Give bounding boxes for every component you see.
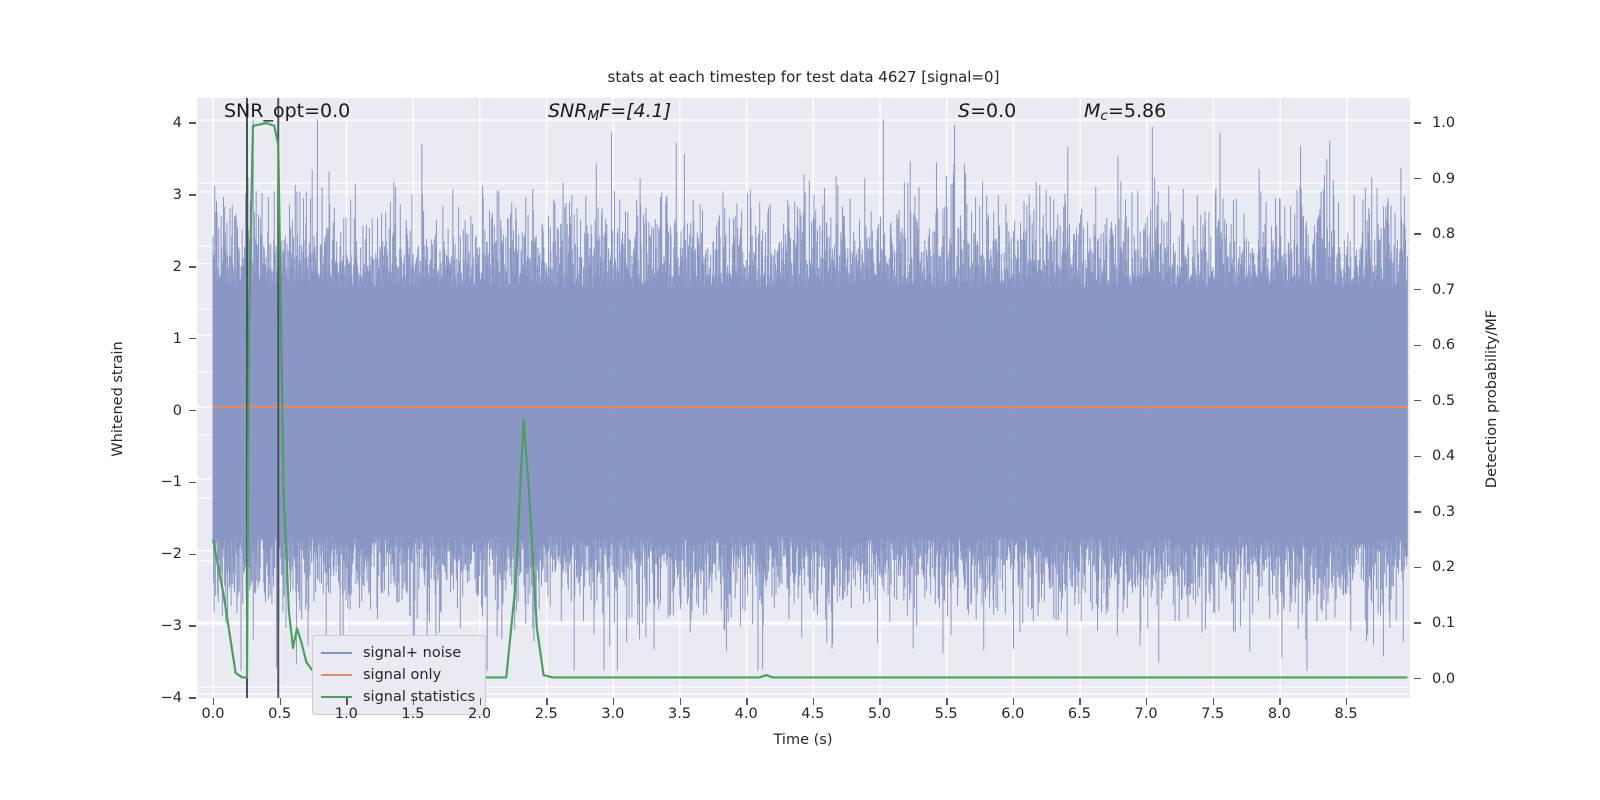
y-axis-left-tick-label: 1 bbox=[142, 331, 182, 347]
y-axis-right-tick-mark bbox=[1414, 678, 1421, 679]
x-axis-tick-label: 4.5 bbox=[783, 706, 843, 722]
y-axis-right-tick-mark bbox=[1414, 178, 1421, 179]
y-axis-right-tick-label: 0.0 bbox=[1432, 671, 1492, 687]
x-axis-tick-mark bbox=[346, 698, 347, 705]
y-axis-right-tick-label: 0.4 bbox=[1432, 448, 1492, 464]
legend-swatch-signal-plus-noise bbox=[321, 652, 352, 654]
y-axis-right-tick-mark bbox=[1414, 400, 1421, 401]
y-axis-right-tick-mark bbox=[1414, 511, 1421, 512]
x-axis-tick-label: 5.0 bbox=[849, 706, 909, 722]
annotation-s-stat-tail: =0.0 bbox=[970, 100, 1016, 122]
series-signal-plus-noise bbox=[213, 120, 1407, 671]
y-axis-left-tick-label: 4 bbox=[142, 115, 182, 131]
x-axis-tick-mark bbox=[480, 698, 481, 705]
y-axis-right-tick-label: 0.7 bbox=[1432, 282, 1492, 298]
y-axis-right-tick-label: 0.6 bbox=[1432, 337, 1492, 353]
y-axis-right-tick-mark bbox=[1414, 567, 1421, 568]
plot-canvas bbox=[197, 98, 1410, 698]
x-axis-tick-label: 3.0 bbox=[583, 706, 643, 722]
annotation-s-stat: S=0.0 bbox=[958, 100, 1016, 122]
x-axis-tick-mark bbox=[1079, 698, 1080, 705]
y-axis-right-tick-mark bbox=[1414, 289, 1421, 290]
x-axis-tick-mark bbox=[746, 698, 747, 705]
y-axis-left-tick-mark bbox=[189, 554, 196, 555]
y-axis-left-tick-label: −4 bbox=[142, 690, 182, 706]
y-axis-left-tick-mark bbox=[189, 410, 196, 411]
annotation-snr-mf-sub: M bbox=[587, 108, 599, 124]
annotation-snr-opt: SNR_opt=0.0 bbox=[224, 100, 350, 122]
annotation-s-stat-base: S bbox=[958, 100, 970, 122]
y-axis-left-tick-label: −3 bbox=[142, 618, 182, 634]
y-axis-left-label: Whitened strain bbox=[110, 341, 126, 456]
legend-label-signal-only: signal only bbox=[363, 667, 441, 683]
x-axis-tick-mark bbox=[280, 698, 281, 705]
y-axis-right-tick-label: 0.1 bbox=[1432, 615, 1492, 631]
legend-swatch-signal-only bbox=[321, 674, 352, 676]
y-axis-left-tick-label: −1 bbox=[142, 474, 182, 490]
legend-label-signal-statistics: signal statistics bbox=[363, 689, 475, 705]
x-axis-label: Time (s) bbox=[774, 732, 833, 748]
y-axis-right-tick-label: 0.3 bbox=[1432, 504, 1492, 520]
x-axis-tick-mark bbox=[879, 698, 880, 705]
x-axis-tick-mark bbox=[1013, 698, 1014, 705]
x-axis-tick-mark bbox=[813, 698, 814, 705]
x-axis-tick-mark bbox=[1213, 698, 1214, 705]
x-axis-tick-mark bbox=[1346, 698, 1347, 705]
y-axis-right-tick-mark bbox=[1414, 122, 1421, 123]
y-axis-right-tick-label: 0.9 bbox=[1432, 171, 1492, 187]
x-axis-tick-label: 7.5 bbox=[1183, 706, 1243, 722]
annotation-snr-mf: SNRMF=[4.1] bbox=[548, 100, 671, 124]
y-axis-left-tick-mark bbox=[189, 625, 196, 626]
x-axis-tick-label: 2.5 bbox=[516, 706, 576, 722]
y-axis-right-tick-label: 0.8 bbox=[1432, 226, 1492, 242]
y-axis-right-tick-label: 1.0 bbox=[1432, 115, 1492, 131]
x-axis-tick-label: 7.0 bbox=[1116, 706, 1176, 722]
x-axis-tick-label: 8.0 bbox=[1249, 706, 1309, 722]
x-axis-tick-label: 6.5 bbox=[1049, 706, 1109, 722]
legend-label-signal-plus-noise: signal+ noise bbox=[363, 645, 461, 661]
y-axis-left-tick-mark bbox=[189, 338, 196, 339]
annotation-snr-mf-base: SNR bbox=[548, 100, 587, 122]
legend-item-signal-statistics[interactable]: signal statistics bbox=[321, 686, 475, 708]
annotation-chirp-mass: Mc=5.86 bbox=[1084, 100, 1166, 124]
x-axis-tick-mark bbox=[213, 698, 214, 705]
y-axis-right-tick-label: 0.5 bbox=[1432, 393, 1492, 409]
legend-item-signal-only[interactable]: signal only bbox=[321, 664, 475, 686]
x-axis-tick-label: 3.5 bbox=[650, 706, 710, 722]
x-axis-tick-mark bbox=[546, 698, 547, 705]
x-axis-tick-label: 4.0 bbox=[716, 706, 776, 722]
x-axis-tick-mark bbox=[1146, 698, 1147, 705]
x-axis-tick-label: 6.0 bbox=[983, 706, 1043, 722]
y-axis-left-tick-mark bbox=[189, 697, 196, 698]
annotation-snr-mf-tail: F=[4.1] bbox=[599, 100, 671, 122]
x-axis-tick-label: 0.5 bbox=[250, 706, 310, 722]
x-axis-tick-label: 2.0 bbox=[450, 706, 510, 722]
y-axis-right-tick-mark bbox=[1414, 622, 1421, 623]
y-axis-left-tick-mark bbox=[189, 122, 196, 123]
y-axis-right-label: Detection probability/MF bbox=[1484, 310, 1500, 488]
legend-item-signal-plus-noise[interactable]: signal+ noise bbox=[321, 642, 475, 664]
x-axis-tick-label: 5.5 bbox=[916, 706, 976, 722]
x-axis-tick-label: 0.0 bbox=[183, 706, 243, 722]
y-axis-right-tick-mark bbox=[1414, 456, 1421, 457]
y-axis-left-tick-label: 3 bbox=[142, 187, 182, 203]
y-axis-right-tick-mark bbox=[1414, 233, 1421, 234]
x-axis-tick-mark bbox=[413, 698, 414, 705]
x-axis-tick-mark bbox=[946, 698, 947, 705]
annotation-chirp-mass-tail: =5.86 bbox=[1108, 100, 1166, 122]
x-axis-tick-mark bbox=[680, 698, 681, 705]
y-axis-left-tick-label: 2 bbox=[142, 259, 182, 275]
x-axis-tick-mark bbox=[1279, 698, 1280, 705]
y-axis-left-tick-label: −2 bbox=[142, 546, 182, 562]
y-axis-right-tick-mark bbox=[1414, 345, 1421, 346]
y-axis-left-tick-label: 0 bbox=[142, 403, 182, 419]
annotation-chirp-mass-base: M bbox=[1084, 100, 1100, 122]
x-axis-tick-label: 8.5 bbox=[1316, 706, 1376, 722]
y-axis-left-tick-mark bbox=[189, 482, 196, 483]
legend[interactable]: signal+ noise signal only signal statist… bbox=[312, 635, 486, 715]
y-axis-left-tick-mark bbox=[189, 194, 196, 195]
figure: stats at each timestep for test data 462… bbox=[0, 0, 1600, 800]
x-axis-tick-mark bbox=[613, 698, 614, 705]
plot-area[interactable] bbox=[197, 98, 1410, 698]
x-axis-tick-label: 1.0 bbox=[316, 706, 376, 722]
page-title: stats at each timestep for test data 462… bbox=[197, 68, 1410, 86]
x-axis-tick-label: 1.5 bbox=[383, 706, 443, 722]
annotation-chirp-mass-sub: c bbox=[1100, 108, 1108, 124]
y-axis-left-tick-mark bbox=[189, 266, 196, 267]
y-axis-right-tick-label: 0.2 bbox=[1432, 559, 1492, 575]
